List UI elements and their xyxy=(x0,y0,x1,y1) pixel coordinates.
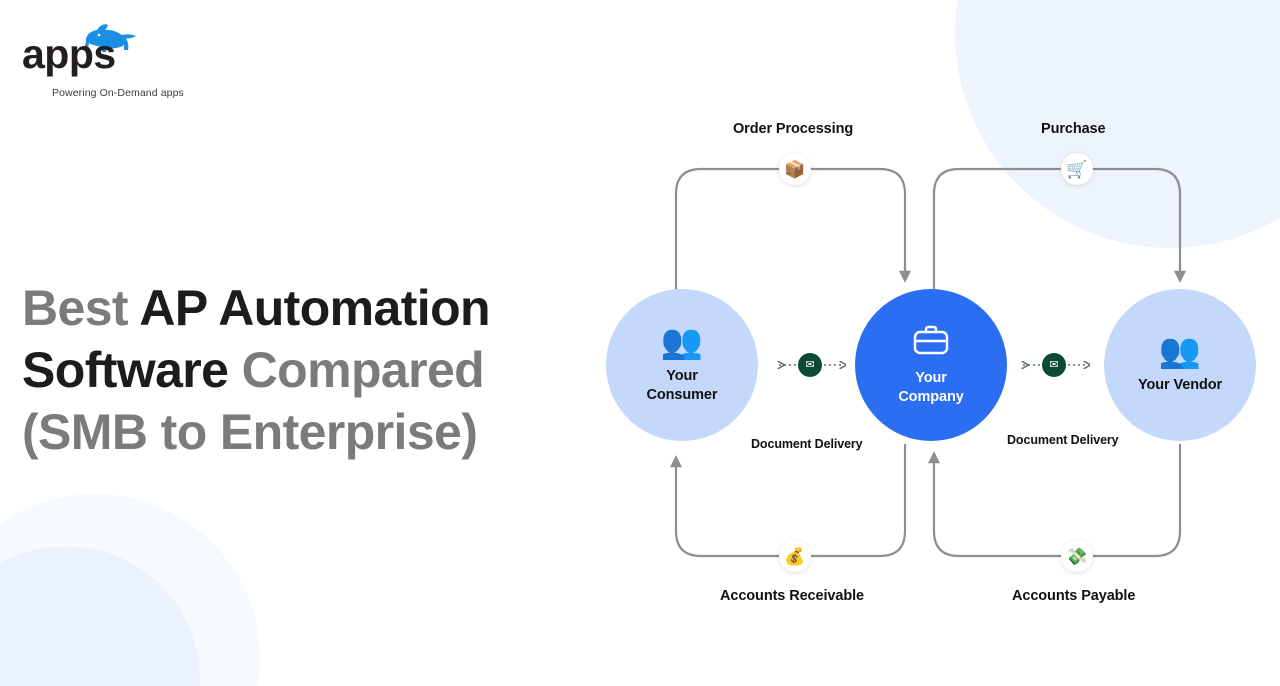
node-label-vendor: Your Vendor xyxy=(1138,376,1222,395)
node-your-consumer[interactable]: 👥 Your Consumer xyxy=(606,289,758,441)
money-in-hand-icon[interactable]: 💰 xyxy=(779,540,811,572)
briefcase-icon xyxy=(912,323,950,361)
envelope-icon: ✉ xyxy=(1042,353,1066,377)
path-label-accounts-receivable: Accounts Receivable xyxy=(720,588,864,604)
people-group-icon: 👥 xyxy=(1159,334,1201,368)
node-label-company: Your Company xyxy=(898,369,963,408)
connector-label-document-delivery-left: Document Delivery xyxy=(751,437,863,451)
node-label-company-line1: Your xyxy=(915,370,947,386)
node-label-vendor-line1: Your Vendor xyxy=(1138,377,1222,393)
node-label-consumer-line2: Consumer xyxy=(647,387,718,403)
package-box-icon[interactable]: 📦 xyxy=(779,153,811,185)
node-label-company-line2: Company xyxy=(898,389,963,405)
node-label-consumer: Your Consumer xyxy=(647,367,718,406)
connector-document-delivery-left[interactable]: ✉ xyxy=(774,350,846,380)
path-label-accounts-payable: Accounts Payable xyxy=(1012,588,1135,604)
page-title-part-1: Best xyxy=(22,280,139,336)
shopping-cart-check-icon[interactable]: 🛒 xyxy=(1061,153,1093,185)
logo-wordmark: apps xyxy=(22,34,116,75)
envelope-icon: ✉ xyxy=(798,353,822,377)
connector-document-delivery-right[interactable]: ✉ xyxy=(1018,350,1090,380)
page-title: Best AP Automation Software Compared (SM… xyxy=(22,277,582,463)
page-canvas: apps Powering On-Demand apps Best AP Aut… xyxy=(0,0,1280,686)
brand-logo[interactable]: apps Powering On-Demand apps xyxy=(22,14,242,94)
path-label-purchase: Purchase xyxy=(1041,121,1106,137)
node-label-consumer-line1: Your xyxy=(666,368,698,384)
logo-tagline: Powering On-Demand apps xyxy=(52,87,184,99)
node-your-vendor[interactable]: 👥 Your Vendor xyxy=(1104,289,1256,441)
node-your-company[interactable]: Your Company xyxy=(855,289,1007,441)
process-flow-diagram: 👥 Your Consumer Your Company 👥 xyxy=(600,100,1280,620)
connector-label-document-delivery-right: Document Delivery xyxy=(1007,433,1119,447)
path-label-order-processing: Order Processing xyxy=(733,121,853,137)
background-blob-bottom-left-inner xyxy=(0,546,200,686)
money-with-wings-icon[interactable]: 💸 xyxy=(1061,540,1093,572)
people-group-icon: 👥 xyxy=(661,325,703,359)
background-blob-bottom-left-outer xyxy=(0,494,260,686)
